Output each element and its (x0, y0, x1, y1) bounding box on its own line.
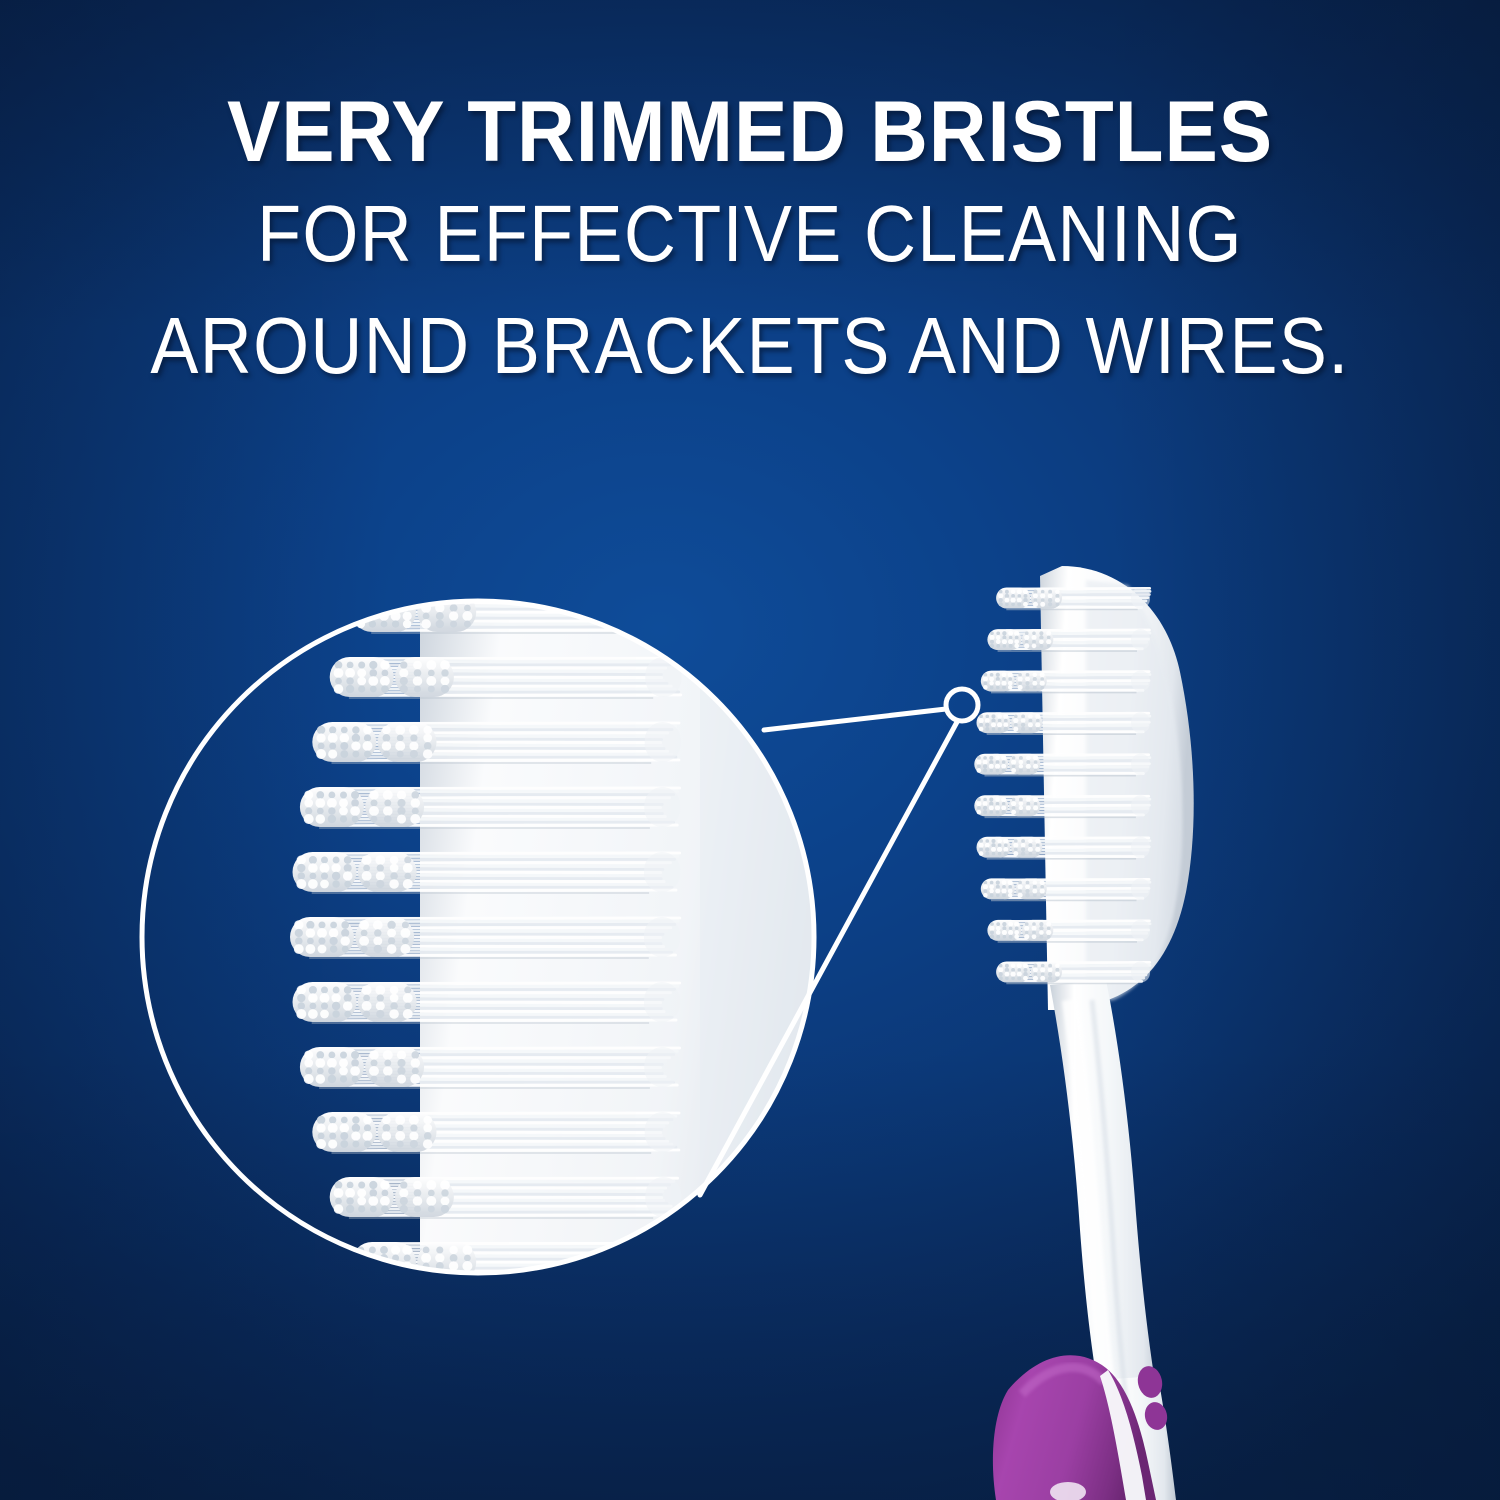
headline-line-1: VERY TRIMMED BRISTLES (53, 86, 1448, 178)
product-marketing-panel: VERY TRIMMED BRISTLES FOR EFFECTIVE CLEA… (0, 0, 1500, 1500)
callout-target-circle (946, 689, 978, 721)
headline-block: VERY TRIMMED BRISTLES FOR EFFECTIVE CLEA… (0, 0, 1500, 402)
headline-line-2: FOR EFFECTIVE CLEANING (75, 178, 1425, 290)
headline-line-3: AROUND BRACKETS AND WIRES. (75, 290, 1425, 402)
toothbrush (974, 566, 1193, 1500)
